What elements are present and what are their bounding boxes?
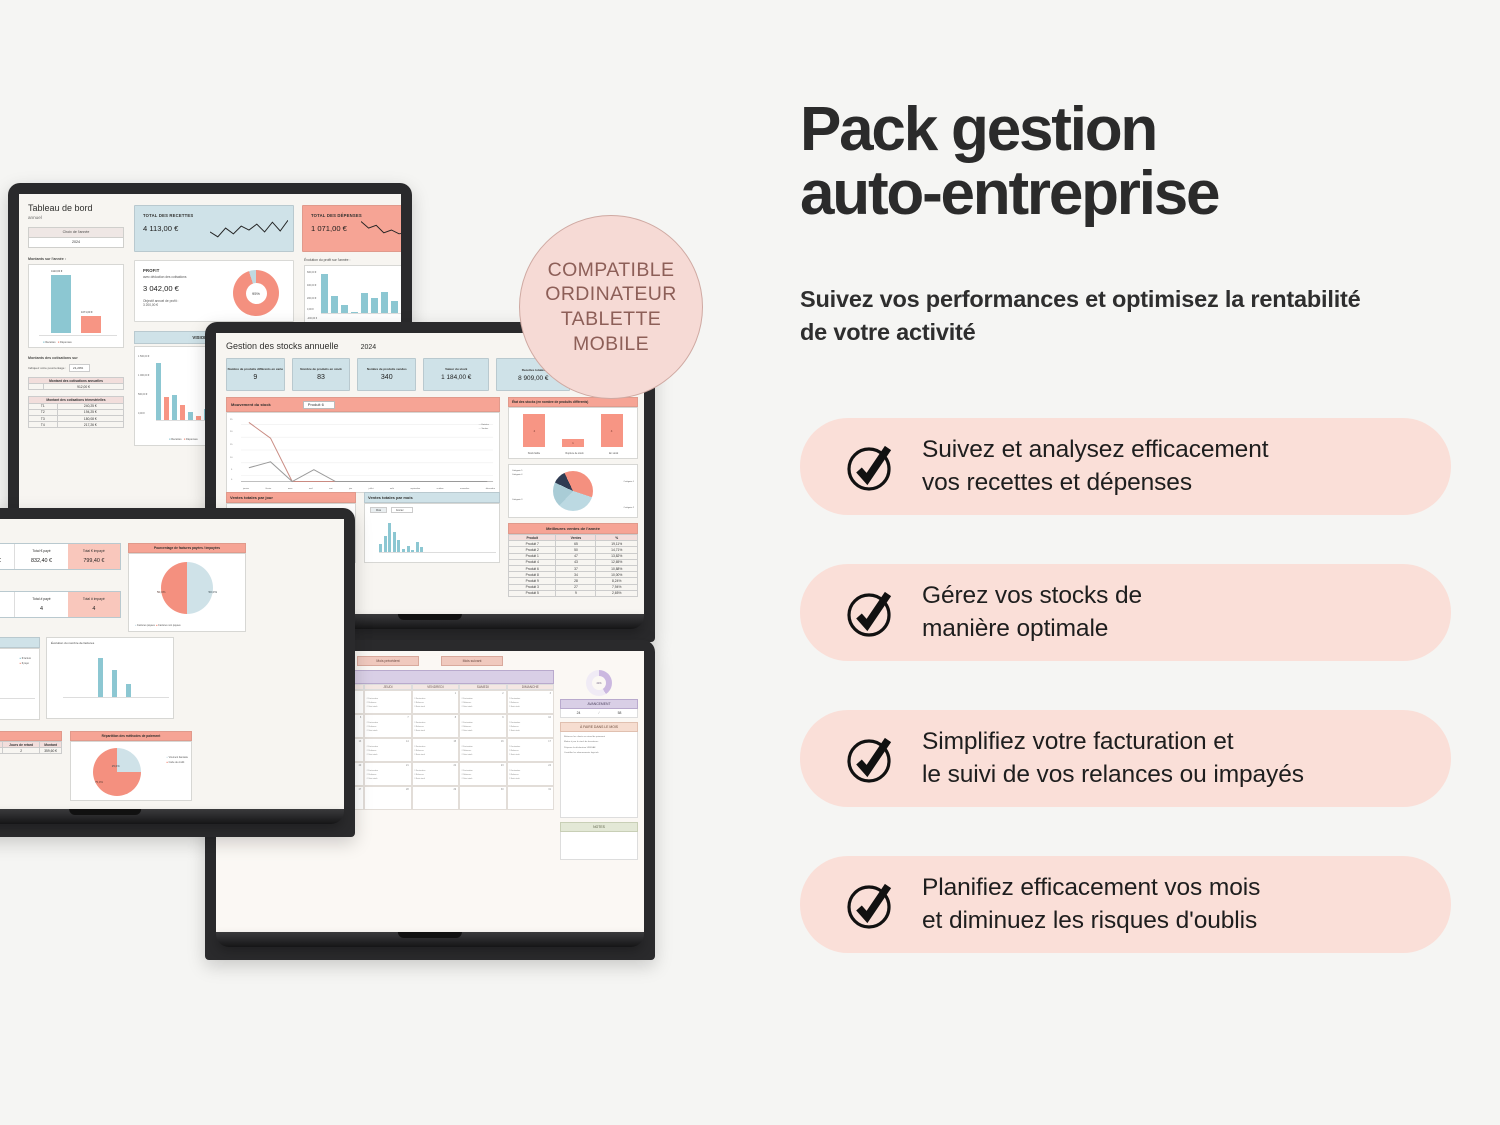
count-paye-label: Total # payé <box>17 597 65 601</box>
payment-pct-card: 25,0% <box>112 764 120 768</box>
year-value[interactable]: 2024 <box>29 238 123 247</box>
movement-legend-entries: Entrées <box>481 424 489 426</box>
calendar-day-cell[interactable]: 28 <box>364 786 411 810</box>
avancement-header: AVANCEMENT <box>560 699 638 709</box>
total-facture-label: Total € facturé <box>0 549 12 553</box>
month-tick: décembre <box>486 488 495 490</box>
pie-cat-label: Catégorie 1 <box>624 481 634 483</box>
stock-kpi-label: Valeur du stock <box>445 368 467 372</box>
best-sales-header: Meilleures ventes de l'année <box>508 523 638 534</box>
year-bar-chart: 4113,00 € 1071,00 € ■ Recettes ■ Dépense… <box>28 264 124 348</box>
movement-line-chart: 25 20 15 10 5 0 <box>226 412 500 493</box>
calendar-day-cell[interactable]: 21□ Facturation□ Relances□ Suivi stock <box>364 762 411 786</box>
chart-profit-title: Évolution du profit sur l'année : <box>304 258 401 262</box>
chart-year-title: Montants sur l'année : <box>28 257 124 261</box>
count-impaye-label: Total # impayé <box>70 597 118 601</box>
headline-line-1: Pack gestion <box>800 95 1156 164</box>
table-cell: Produit 5 <box>509 590 556 596</box>
laptop-invoices: Suivi des factures clients Nombre de fac… <box>0 508 355 837</box>
best-sales-table: ProduitVentes%Produit 76519,11%Produit 2… <box>508 534 638 597</box>
month-select-value[interactable]: Février <box>391 507 412 513</box>
payment-pct-transfer: 75,0% <box>95 780 103 784</box>
poster-canvas: Tableau de bord annuel Choix de l'année … <box>0 0 1500 1125</box>
calendar-day-cell[interactable]: 14□ Facturation□ Relances□ Suivi stock <box>364 738 411 762</box>
badge-line: COMPATIBLE <box>548 258 675 283</box>
pie-right-pct: 50,0% <box>208 590 217 594</box>
stock-kpi-value: 340 <box>381 374 393 381</box>
badge-line: MOBILE <box>573 332 649 357</box>
calendar-day-cell[interactable]: 16□ Facturation□ Relances□ Suivi stock <box>459 738 506 762</box>
badge-line: TABLETTE <box>561 307 661 332</box>
avancement-total: 58 <box>602 709 637 717</box>
payment-legend-transfer: Virement bancaire <box>169 756 188 759</box>
next-month-button[interactable]: Mois suivant <box>441 656 503 666</box>
unpaid-table: N° de factureClientJours de retardMontan… <box>0 741 62 754</box>
feature-text: Gérez vos stocks de manière optimale <box>922 580 1142 646</box>
calendar-day-cell[interactable]: 24□ Facturation□ Relances□ Suivi stock <box>507 762 554 786</box>
stock-category-pie: Catégorie 5 Catégorie 4 Catégorie 3 Caté… <box>508 464 638 518</box>
amount-chart-header: Montant facturé / payé <box>0 637 40 648</box>
cotis-quarter-table: Montant des cotisations trimestrielles T… <box>28 396 124 428</box>
table-cell: 359,60 € <box>40 748 62 754</box>
movement-title: Mouvement du stock <box>231 402 271 407</box>
feature-item-invoicing[interactable]: Simplifiez votre facturation et le suivi… <box>800 710 1451 807</box>
stock-kpi: Nombre de produits en stock 83 <box>292 358 351 391</box>
progress-donut: 41% <box>586 670 612 696</box>
feature-item-planning[interactable]: Planifiez efficacement vos mois et dimin… <box>800 856 1451 953</box>
total-impaye-label: Total € impayé <box>70 549 118 553</box>
stock-state-cat: Stock faible <box>528 452 540 455</box>
calendar-day-cell[interactable]: 8□ Facturation□ Relances□ Suivi stock <box>412 714 459 738</box>
profit-evolution-chart: 600,00 € 400,00 € 200,00 € 0,00 € -200,0… <box>304 265 401 323</box>
laptop-lid: Suivi des factures clients Nombre de fac… <box>0 508 355 837</box>
stock-state-chart: 4 1 4 Stock faible Rupture de stock En s… <box>508 407 638 459</box>
paid-pie-chart: 50,0% 50,0% ■ Factures payées ■ Factures… <box>128 553 246 632</box>
kpi-depenses: TOTAL DES DÉPENSES 1 071,00 € <box>302 205 401 252</box>
cotis-annual-table: Montant des cotisations annuelles 912,00… <box>28 377 124 390</box>
total-paye-label: Total € payé <box>17 549 65 553</box>
month-tick: janvier <box>243 488 249 490</box>
calendar-day-cell[interactable]: 23□ Facturation□ Relances□ Suivi stock <box>459 762 506 786</box>
month-tick: avril <box>309 488 313 490</box>
calendar-day-cell[interactable]: 30 <box>459 786 506 810</box>
count-facture-value: 8 <box>0 606 12 612</box>
month-tick: février <box>266 488 272 490</box>
stock-kpi-value: 1 184,00 € <box>441 374 471 381</box>
quarter-value: 217,26 € <box>57 422 123 428</box>
count-facture-label: Total # facturé <box>0 597 12 601</box>
table-cell: 2 <box>3 748 40 754</box>
feature-text: Simplifiez votre facturation et le suivi… <box>922 726 1304 792</box>
todo-header: À FAIRE DANS LE MOIS <box>560 722 638 732</box>
pie-cat-label: Catégorie 4 <box>512 474 522 478</box>
cotis-pct-label: Indiquez votre pourcentage : <box>28 366 66 370</box>
compatibility-badge: COMPATIBLE ORDINATEUR TABLETTE MOBILE <box>519 215 703 399</box>
calendar-day-cell[interactable]: 22□ Facturation□ Relances□ Suivi stock <box>412 762 459 786</box>
stocks-year[interactable]: 2024 <box>361 344 377 351</box>
page-subtitle: Suivez vos performances et optimisez la … <box>800 283 1380 350</box>
payment-header: Répartition des méthodes de paiement <box>70 731 192 741</box>
payment-pie-chart: 25,0% 75,0% ■ Virement bancaire ■ Carte … <box>70 741 192 801</box>
year-picker-label: Choix de l'année <box>29 228 123 238</box>
dashboard-title: Tableau de bord <box>28 203 124 213</box>
feature-text: Suivez et analysez efficacement vos rece… <box>922 434 1268 500</box>
stock-state-cat: En stock <box>609 452 618 455</box>
month-tick: octobre <box>437 488 444 490</box>
calendar-day-cell[interactable]: □ Facturation□ Relances□ Suivi stock <box>364 690 411 714</box>
pie-cat-label: Catégorie 3 <box>512 499 522 501</box>
table-cell: 2,65% <box>596 590 638 596</box>
count-impaye-value: 4 <box>70 606 118 612</box>
stocks-title: Gestion des stocks annuelle <box>226 341 339 351</box>
amount-chart: ■ € facturé ■ € payé <box>0 648 40 720</box>
month-tick: juillet <box>369 488 374 490</box>
invoice-count-chart: Évolution du nombre de factures <box>46 637 174 719</box>
cotis-title: Montants des cotisations sur <box>28 356 124 360</box>
profit-donut-chart: 95% <box>233 270 279 316</box>
headline-line-2: auto-entreprise <box>800 162 1440 226</box>
badge-line: ORDINATEUR <box>545 282 676 307</box>
dashboard-subtitle: annuel <box>28 215 124 220</box>
calendar-day-cell[interactable]: 10□ Facturation□ Relances□ Suivi stock <box>507 714 554 738</box>
feature-list: Suivez et analysez efficacement vos rece… <box>800 418 1500 1002</box>
calendar-day-cell[interactable]: 2□ Facturation□ Relances□ Suivi stock <box>459 690 506 714</box>
stock-kpi: Nombre de produits différents en carte 9 <box>226 358 285 391</box>
calendar-day-cell[interactable]: 29 <box>412 786 459 810</box>
check-circle-icon <box>844 733 896 785</box>
feature-item-stocks[interactable]: Gérez vos stocks de manière optimale <box>800 564 1451 661</box>
invoice-count-title: Évolution du nombre de factures <box>51 641 94 645</box>
movement-legend-exits: Sorties <box>481 428 488 430</box>
profit-donut-pct: 95% <box>246 283 267 304</box>
month-tick: septembre <box>410 488 420 490</box>
cotis-annual-value: 912,00 € <box>44 384 124 390</box>
profit-card: PROFIT avec déduction des cotisations 3 … <box>134 260 294 322</box>
check-circle-icon <box>844 879 896 931</box>
month-tick: août <box>390 488 394 490</box>
invoices-title: Suivi des factures clients <box>0 527 334 536</box>
sales-day-header: Ventes totales par jour <box>226 492 356 503</box>
stock-kpi: Valeur du stock 1 184,00 € <box>423 358 489 391</box>
month-select-label: Mois <box>370 507 387 513</box>
calendar-day-cell[interactable]: 9□ Facturation□ Relances□ Suivi stock <box>459 714 506 738</box>
pie-legend-unpaid: Factures non payées <box>158 624 180 627</box>
month-tick: mai <box>329 488 332 490</box>
pie-legend-paid: Factures payées <box>137 624 155 627</box>
payment-legend-card: Carte de crédit <box>169 761 185 764</box>
prev-month-button[interactable]: Mois précédent <box>357 656 419 666</box>
movement-product-select[interactable]: Produit 6 <box>303 401 335 409</box>
kpi-recettes: TOTAL DES RECETTES 4 113,00 € <box>134 205 294 252</box>
cotis-pct-value[interactable]: 21,20% <box>69 364 90 372</box>
stock-kpi-value: 8 909,00 € <box>518 375 548 382</box>
table-row: Produit 592,65% <box>509 590 638 596</box>
pie-cat-label: Catégorie 2 <box>624 507 634 509</box>
calendar-day-cell[interactable]: 7□ Facturation□ Relances□ Suivi stock <box>364 714 411 738</box>
legend-depenses: Dépenses <box>60 341 72 344</box>
calendar-day-cell[interactable]: 31 <box>507 786 554 810</box>
stock-kpi-label: Nombre de produits différents en carte <box>228 368 283 372</box>
total-paye-value: 832,40 € <box>17 558 65 564</box>
progress-pct: 41% <box>592 676 606 690</box>
month-tick: mars <box>288 488 293 490</box>
movement-header: Mouvement du stock Produit 6 <box>226 397 500 412</box>
total-impaye-value: 799,40 € <box>70 558 118 564</box>
stock-kpi-value: 9 <box>253 374 257 381</box>
table-cell: 9 <box>556 590 596 596</box>
stock-kpi-label: Nombre de produits vendus <box>367 368 407 372</box>
legend-recettes: Recettes <box>45 341 55 344</box>
stock-kpi-value: 83 <box>317 374 325 381</box>
feature-item-analytics[interactable]: Suivez et analysez efficacement vos rece… <box>800 418 1451 515</box>
calendar-day-cell[interactable]: 15□ Facturation□ Relances□ Suivi stock <box>412 738 459 762</box>
month-tick: juin <box>349 488 352 490</box>
check-circle-icon <box>844 587 896 639</box>
page-title: Pack gestion auto-entreprise <box>800 98 1440 226</box>
paid-pie-header: Pourcentage de factures payées / impayée… <box>128 543 246 553</box>
feature-text: Planifiez efficacement vos mois et dimin… <box>922 872 1260 938</box>
calendar-day-cell[interactable]: 1□ Facturation□ Relances□ Suivi stock <box>412 690 459 714</box>
legend-paid: € payé <box>22 662 29 665</box>
pie-left-pct: 50,0% <box>157 590 166 594</box>
legend-invoiced: € facturé <box>22 657 31 660</box>
marketing-panel: Pack gestion auto-entreprise Suivez vos … <box>795 0 1500 1125</box>
calendar-day-cell[interactable]: 3□ Facturation□ Relances□ Suivi stock <box>507 690 554 714</box>
quarter-label: T4 <box>29 422 58 428</box>
stock-kpi: Nombre de produits vendus 340 <box>357 358 416 391</box>
sales-month-header: Ventes totales par mois <box>364 492 500 503</box>
unpaid-header: Factures impayées les plus élevées <box>0 731 62 741</box>
stock-kpi-label: Nombre de produits en stock <box>300 368 342 372</box>
laptop-base <box>216 932 644 947</box>
count-paye-value: 4 <box>17 606 65 612</box>
invoices-screen: Suivi des factures clients Nombre de fac… <box>0 519 344 809</box>
notes-header: NOTES <box>560 822 638 832</box>
avancement-done: 24 <box>561 709 596 717</box>
check-circle-icon <box>844 441 896 493</box>
stock-state-cat: Rupture de stock <box>566 452 584 455</box>
calendar-day-cell[interactable]: 17□ Facturation□ Relances□ Suivi stock <box>507 738 554 762</box>
total-facture-value: 1 631,80 € <box>0 558 12 564</box>
sales-month-chart: Mois Février <box>364 503 500 563</box>
table-row: N°3Martin Sophie2359,60 € <box>0 748 62 754</box>
month-tick: novembre <box>460 488 469 490</box>
laptop-base <box>0 809 344 824</box>
